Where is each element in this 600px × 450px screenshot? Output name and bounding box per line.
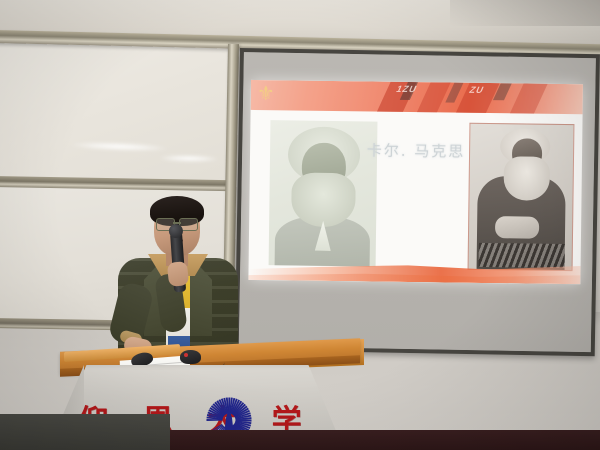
slide-top-banner: 1ZU ZU ⚜: [251, 80, 583, 114]
speaker-hand-holding-mic: [167, 261, 189, 287]
marx-bust-portrait: [269, 120, 378, 266]
projected-slide: 1ZU ZU ⚜ 卡尔. 马克思: [248, 80, 583, 284]
hammer-and-sickle-icon: ⚜: [257, 83, 283, 105]
speaker-figure: [118, 196, 238, 356]
marx-seated-portrait: [468, 123, 575, 271]
microphone-head: [168, 224, 183, 239]
whiteboard-upper-left: [0, 40, 232, 187]
whiteboard-glare-upper: [72, 141, 167, 153]
slide-title: 卡尔. 马克思: [367, 139, 466, 161]
projection-screen-panel: 1ZU ZU ⚜ 卡尔. 马克思: [235, 48, 600, 356]
left-floor-block: [0, 414, 170, 450]
mouse-indicator-light: [184, 353, 188, 357]
mouse-rear-icon[interactable]: [180, 350, 201, 364]
lecture-hall-photo: 1ZU ZU ⚜ 卡尔. 马克思: [0, 0, 600, 450]
banner-text-fragment-1: 1ZU: [395, 84, 419, 94]
ceiling-shadow: [450, 0, 600, 26]
